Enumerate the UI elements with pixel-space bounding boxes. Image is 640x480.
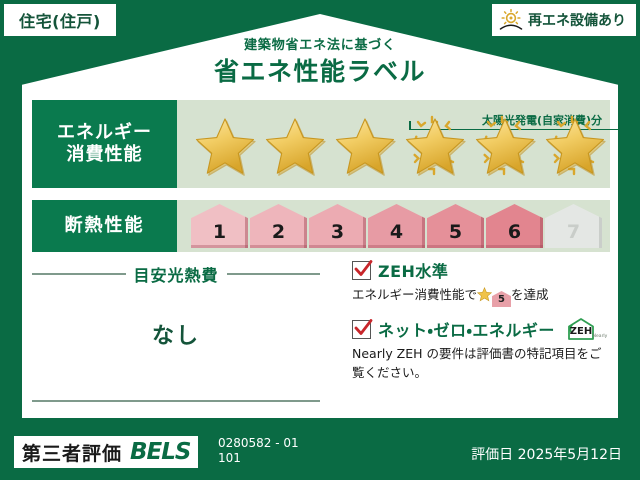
zeh-suijun-body: エネルギー消費性能で5を達成 xyxy=(352,285,614,307)
zeh-suijun-title: ZEH水準 xyxy=(378,258,448,282)
label-footer: 第三者評価 BELS 0280582 - 01 101 評価日 2025年5月1… xyxy=(0,426,640,480)
zeh-body-part-1: エネルギー消費性能で xyxy=(352,287,477,302)
evaluation-date: 評価日 2025年5月12日 xyxy=(471,444,622,464)
dwelling-type-tag: 住宅(住戸) xyxy=(4,4,116,36)
insulation-level-1: 1 xyxy=(191,204,248,248)
insulation-level-2: 2 xyxy=(250,204,307,248)
bels-certificate-number: 0280582 - 01 101 xyxy=(218,436,299,466)
bels-wordmark: BELS xyxy=(130,439,190,465)
insulation-level-label: 1 xyxy=(213,221,226,243)
third-party-eval-label: 第三者評価 xyxy=(22,439,122,466)
house-level-icon: 5 xyxy=(492,291,511,307)
cost-title: 目安光熱費 xyxy=(134,262,219,286)
criterion-net-zero-energy: ネット・ゼロ・エネルギー ZEH Nearly Nearly ZEH の要件は評… xyxy=(352,317,614,383)
insulation-level-label: 2 xyxy=(272,221,285,243)
star-icon xyxy=(477,287,492,302)
title-main: 省エネ性能ラベル xyxy=(0,56,640,87)
bels-plate: 第三者評価 BELS xyxy=(14,436,198,468)
sun-icon xyxy=(498,8,524,32)
net-zero-energy-title: ネット・ゼロ・エネルギー xyxy=(378,317,555,341)
zeh-suijun-checkbox[interactable] xyxy=(352,261,371,280)
net-zero-energy-checkbox[interactable] xyxy=(352,320,371,339)
insulation-scale: 1234567 xyxy=(177,204,602,248)
label-title-block: 建築物省エネ法に基づく 省エネ性能ラベル xyxy=(0,38,640,87)
criteria-list: ZEH水準 エネルギー消費性能で5を達成 ネット・ゼロ・エネルギー xyxy=(352,258,614,393)
estimated-utility-cost-panel: 目安光熱費 なし xyxy=(32,262,320,410)
energy-star-rating xyxy=(177,114,609,180)
bels-number-line1: 0280582 - 01 xyxy=(218,436,299,451)
insulation-level-label: 5 xyxy=(449,221,462,243)
insulation-performance-row: 断熱性能 1234567 xyxy=(32,200,610,252)
insulation-performance-value: 1234567 xyxy=(177,200,610,252)
insulation-level-label: 4 xyxy=(390,221,403,243)
insulation-level-label: 3 xyxy=(331,221,344,243)
insulation-level-5: 5 xyxy=(427,204,484,248)
bels-number-line2: 101 xyxy=(218,451,299,466)
renewable-equipment-label: 再エネ設備あり xyxy=(528,10,626,30)
energy-performance-row: エネルギー 消費性能 太陽光発電(自家消費)分 xyxy=(32,100,610,188)
criterion-zeh-suijun: ZEH水準 エネルギー消費性能で5を達成 xyxy=(352,258,614,307)
insulation-level-7: 7 xyxy=(545,204,602,248)
insulation-level-6: 6 xyxy=(486,204,543,248)
zeh-body-part-3: を達成 xyxy=(511,287,549,302)
insulation-key-label: 断熱性能 xyxy=(65,215,145,238)
bels-energy-label: 住宅(住戸) 再エネ設備あり 建築物省エネ法に基づく xyxy=(0,0,640,480)
svg-text:ZEH: ZEH xyxy=(570,326,592,337)
criterion-header: ZEH水準 xyxy=(352,258,614,282)
star-solar-icon xyxy=(471,114,539,180)
star-icon xyxy=(191,114,259,180)
energy-performance-value: 太陽光発電(自家消費)分 xyxy=(177,100,610,188)
criterion-header: ネット・ゼロ・エネルギー ZEH Nearly xyxy=(352,317,614,341)
energy-key-line2: 消費性能 xyxy=(67,144,143,167)
net-zero-energy-body: Nearly ZEH の要件は評価書の特記項目をご覧ください。 xyxy=(352,344,614,383)
cost-value: なし xyxy=(32,318,320,350)
cost-rule-right xyxy=(227,273,321,275)
svg-text:Nearly: Nearly xyxy=(593,333,608,339)
cost-rule-left xyxy=(32,273,126,275)
star-icon xyxy=(261,114,329,180)
insulation-level-label: 6 xyxy=(508,221,521,243)
dwelling-type-label: 住宅(住戸) xyxy=(19,8,101,32)
cost-header: 目安光熱費 xyxy=(32,262,320,286)
insulation-level-4: 4 xyxy=(368,204,425,248)
star-icon xyxy=(331,114,399,180)
renewable-equipment-tag: 再エネ設備あり xyxy=(492,4,636,36)
star-solar-icon xyxy=(541,114,609,180)
insulation-level-label: 7 xyxy=(567,221,580,243)
title-subtitle: 建築物省エネ法に基づく xyxy=(0,38,640,54)
star-solar-icon xyxy=(401,114,469,180)
insulation-level-3: 3 xyxy=(309,204,366,248)
insulation-performance-key: 断熱性能 xyxy=(32,200,177,252)
energy-performance-key: エネルギー 消費性能 xyxy=(32,100,177,188)
energy-key-line1: エネルギー xyxy=(57,122,152,145)
cost-rule-bottom xyxy=(32,400,320,402)
zeh-logo: ZEH Nearly xyxy=(562,317,608,341)
